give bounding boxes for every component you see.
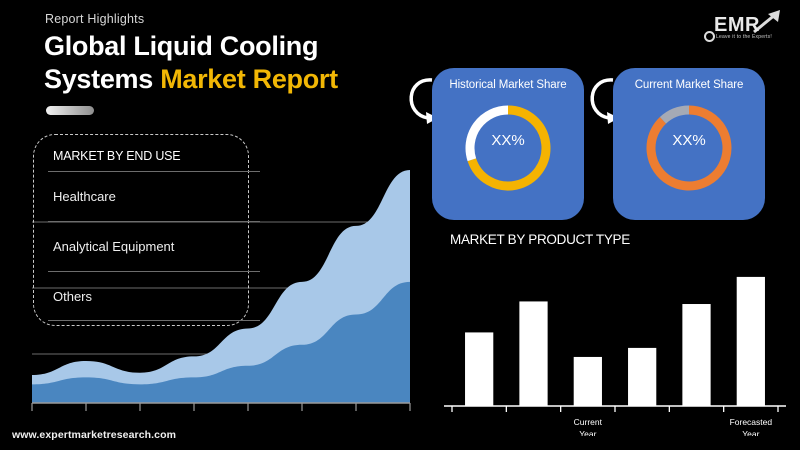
bar [465,332,493,406]
footer-website-url: www.expertmarketresearch.com [12,429,176,441]
end-use-item-label: Others [48,289,92,304]
page-title-line2-plain: Systems [44,64,160,94]
historical-share-value: XX% [432,132,584,149]
current-market-share-card[interactable]: Current Market Share XX% [613,68,765,220]
logo-tagline: Leave it to the Experts! [716,34,772,40]
bar [574,357,602,406]
bar-x-label: Year [742,429,759,436]
market-by-product-type-bar-chart: CurrentYearForecastedYear [440,256,790,436]
bar [737,277,765,406]
bar-x-ticks [452,406,778,412]
list-item[interactable]: Analytical Equipment [48,221,260,271]
bar-x-label: Year [579,429,596,436]
end-use-list: Healthcare Analytical Equipment Others [48,171,260,321]
page-title-line1: Global Liquid Cooling [44,31,318,61]
bar [682,304,710,406]
share-card-title: Historical Market Share [432,79,584,91]
area-x-ticks [32,403,410,411]
bar [628,348,656,406]
report-highlights-eyebrow: Report Highlights [45,12,144,26]
end-use-item-label: Analytical Equipment [48,239,174,254]
donut-segment-remainder [663,110,689,120]
bar-x-label: Forecasted [730,417,773,427]
market-by-end-use-card: MARKET BY END USE Healthcare Analytical … [33,134,249,326]
share-card-title: Current Market Share [613,79,765,91]
end-use-card-title: MARKET BY END USE [53,149,180,163]
bar-group [465,277,765,406]
emr-logo: EMR Leave it to the Experts! [694,8,786,46]
page-title: Global Liquid Cooling Systems Market Rep… [44,30,404,96]
title-underline-pill [46,106,94,115]
bar [519,301,547,406]
bar-x-labels: CurrentYearForecastedYear [574,417,773,436]
page-title-line2-accent: Market Report [160,64,338,94]
bar-x-label: Current [574,417,603,427]
list-item[interactable]: Others [48,271,260,321]
historical-market-share-card[interactable]: Historical Market Share XX% [432,68,584,220]
current-share-value: XX% [613,132,765,149]
list-item[interactable]: Healthcare [48,171,260,221]
market-by-product-type-title: MARKET BY PRODUCT TYPE [450,232,630,247]
end-use-item-label: Healthcare [48,189,116,204]
